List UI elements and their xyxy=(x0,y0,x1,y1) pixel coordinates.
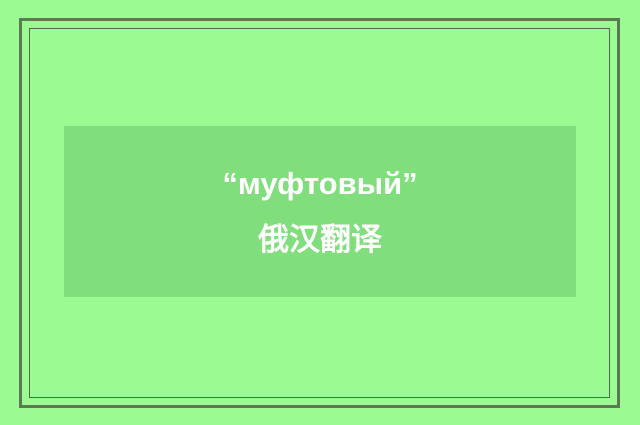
poster-canvas: “муфтовый” 俄汉翻译 xyxy=(0,0,640,425)
caption-panel: “муфтовый” 俄汉翻译 xyxy=(64,126,576,297)
poster-title-text: “муфтовый” 俄汉翻译 xyxy=(205,156,435,268)
